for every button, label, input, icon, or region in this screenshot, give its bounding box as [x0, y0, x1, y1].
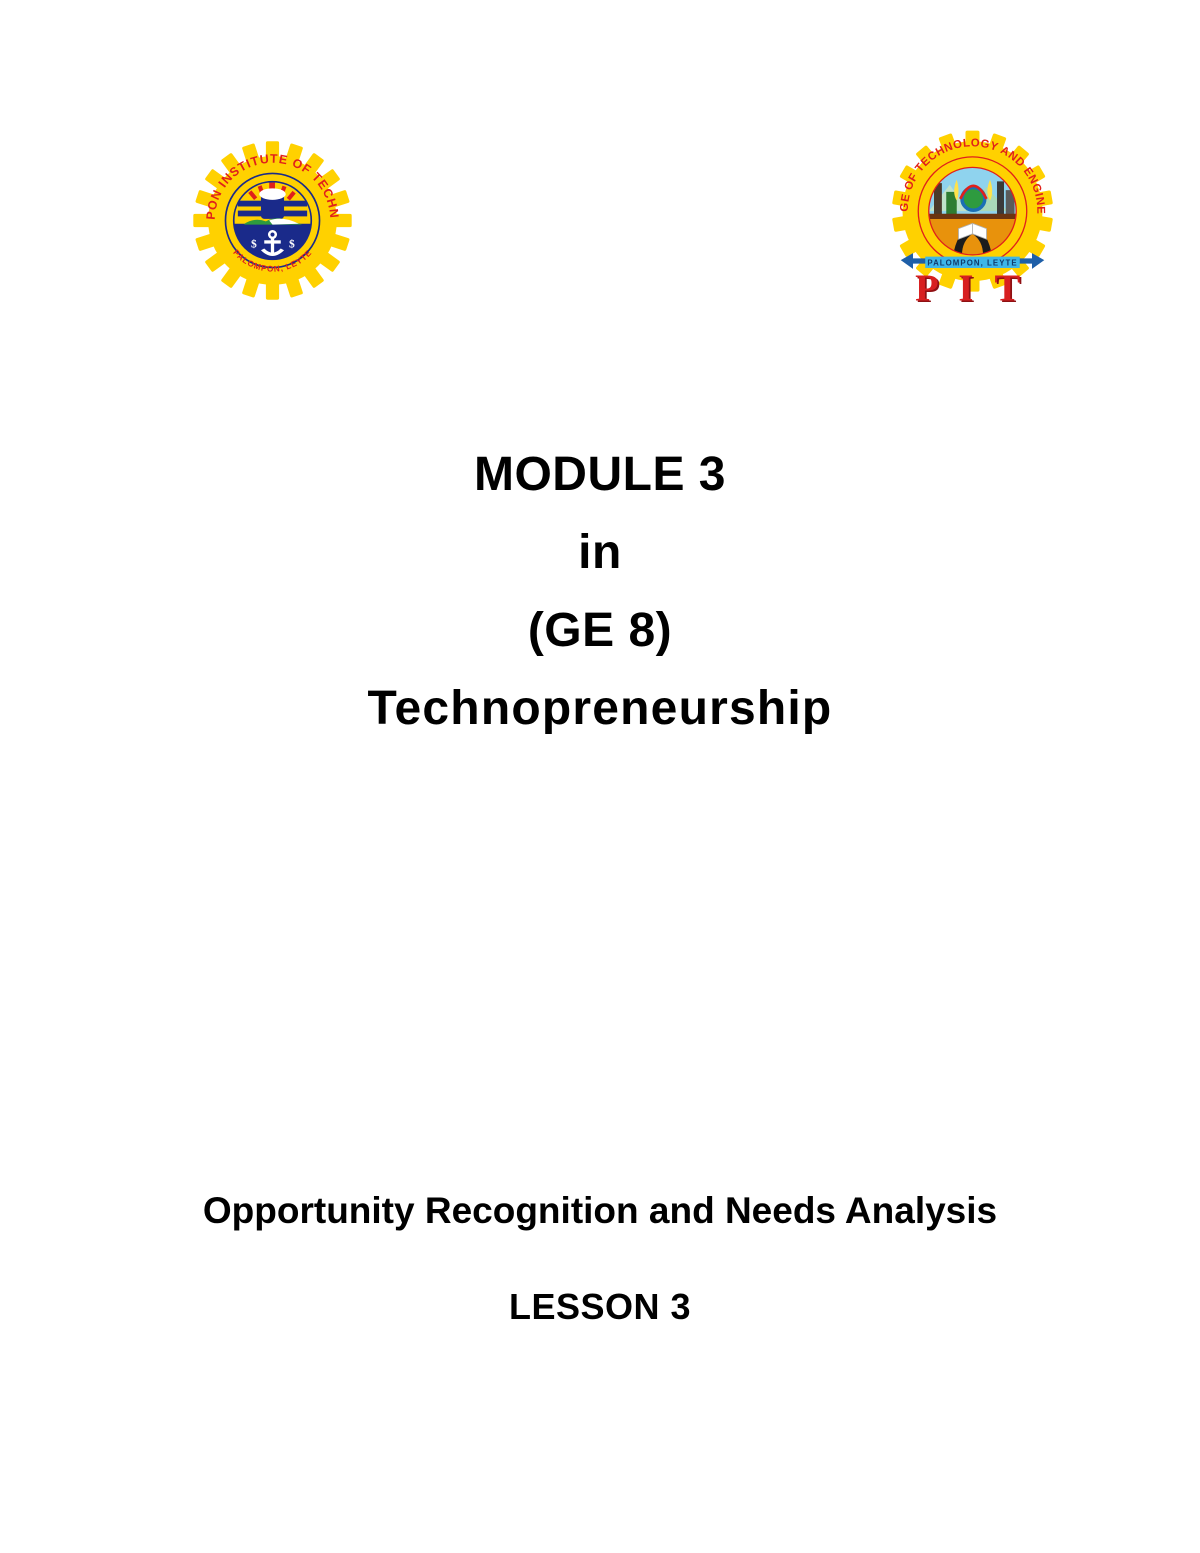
- svg-text:$: $: [289, 238, 295, 251]
- subtitle-block: Opportunity Recognition and Needs Analys…: [196, 1186, 1004, 1330]
- college-of-technology-and-engineering-seal-icon: COLLEGE OF TECHNOLOGY AND ENGINEERING: [885, 130, 1060, 315]
- lesson-topic: Opportunity Recognition and Needs Analys…: [196, 1186, 1004, 1236]
- svg-text:$: $: [251, 238, 257, 251]
- logo-row: PALOMPON INSTITUTE OF TECHNOLOGY PALOMPO…: [0, 130, 1200, 320]
- title-line-course-name: Technopreneurship: [100, 670, 1100, 748]
- lesson-number: LESSON 3: [196, 1284, 1004, 1330]
- palompon-institute-of-technology-seal-icon: PALOMPON INSTITUTE OF TECHNOLOGY PALOMPO…: [190, 138, 355, 303]
- cover-page: PALOMPON INSTITUTE OF TECHNOLOGY PALOMPO…: [0, 0, 1200, 1553]
- title-line-module: MODULE 3: [100, 436, 1100, 514]
- title-line-in: in: [100, 514, 1100, 592]
- svg-text:PALOMPON, LEYTE: PALOMPON, LEYTE: [927, 258, 1017, 267]
- title-block: MODULE 3 in (GE 8) Technopreneurship: [100, 436, 1100, 748]
- svg-text:P I T: P I T: [915, 267, 1026, 309]
- title-line-course-code: (GE 8): [100, 592, 1100, 670]
